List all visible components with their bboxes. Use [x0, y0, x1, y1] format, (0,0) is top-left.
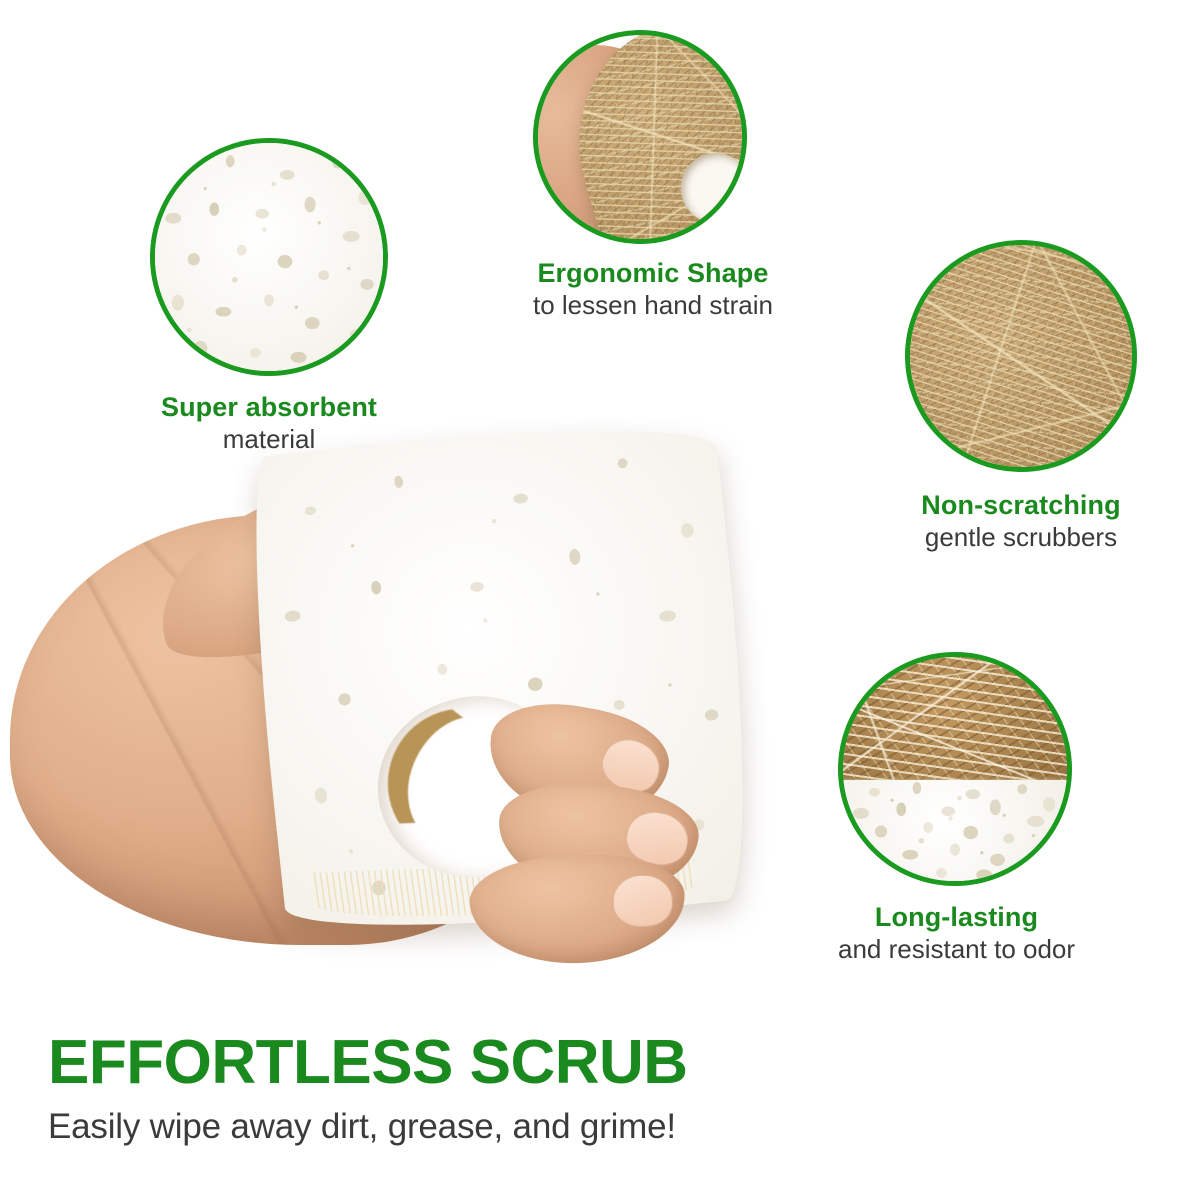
feature-caption: Ergonomic Shape to lessen hand strain: [533, 258, 773, 322]
feature-image-super-absorbent: [150, 138, 388, 376]
feature-image-non-scratching: [905, 240, 1137, 472]
feature-caption: Super absorbent material: [150, 392, 388, 456]
cross-section-coir-layer: [843, 657, 1067, 785]
feature-title: Non-scratching: [905, 490, 1137, 522]
hero-product-image: [0, 455, 830, 975]
sponge-notch: [681, 153, 747, 222]
feature-super-absorbent: Super absorbent material: [150, 138, 388, 456]
page-subtitle: Easily wipe away dirt, grease, and grime…: [48, 1107, 1158, 1147]
feature-title: Ergonomic Shape: [533, 258, 773, 290]
feature-caption: Non-scratching gentle scrubbers: [905, 490, 1137, 554]
feature-title: Long-lasting: [838, 902, 1075, 934]
feature-subtitle: and resistant to odor: [838, 934, 1075, 966]
coir-fiber-texture-icon: [910, 245, 1132, 467]
page-title: EFFORTLESS SCRUB: [48, 1030, 1158, 1095]
feature-long-lasting: Long-lasting and resistant to odor: [838, 652, 1075, 966]
feature-caption: Long-lasting and resistant to odor: [838, 902, 1075, 966]
feature-non-scratching: Non-scratching gentle scrubbers: [905, 240, 1137, 554]
feature-subtitle: to lessen hand strain: [533, 290, 773, 322]
feature-image-long-lasting: [838, 652, 1072, 886]
sponge-texture-icon: [155, 143, 383, 371]
finger-icon: [468, 851, 687, 966]
feature-subtitle: gentle scrubbers: [905, 522, 1137, 554]
feature-title: Super absorbent: [150, 392, 388, 424]
cross-section-sponge-layer: [843, 780, 1067, 881]
leaf-sponge: [238, 409, 765, 946]
feature-image-ergonomic-shape: [533, 30, 747, 244]
product-feature-poster: Super absorbent material Ergonomic Shape…: [0, 0, 1200, 1200]
headline-block: EFFORTLESS SCRUB Easily wipe away dirt, …: [48, 1030, 1158, 1147]
feature-ergonomic-shape: Ergonomic Shape to lessen hand strain: [533, 30, 773, 322]
fingernail-icon: [613, 875, 673, 927]
